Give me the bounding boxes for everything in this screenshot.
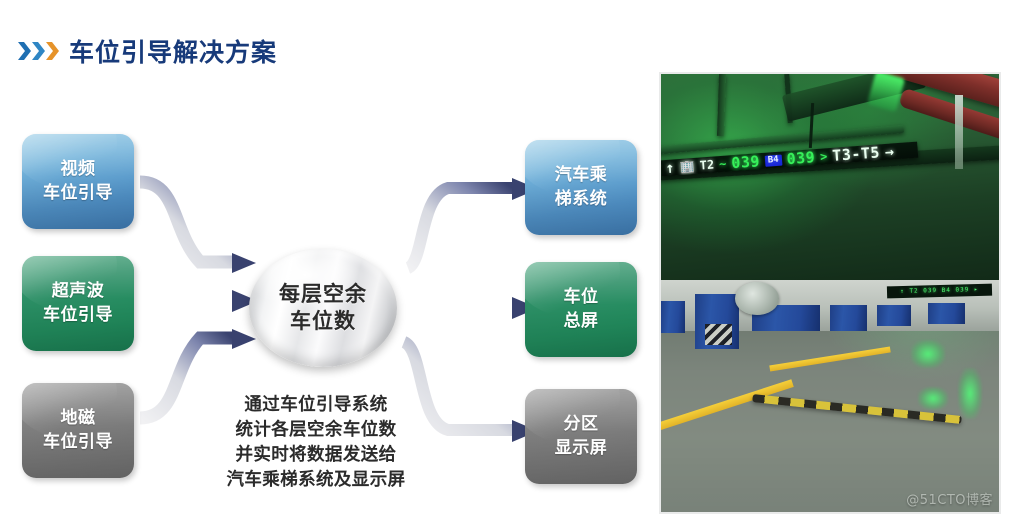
output-box-zone-display-line2: 显示屏 <box>555 437 608 460</box>
far-led-sign-text: ↑ T2 039 B4 039 ▸ <box>901 286 980 295</box>
led-building-icon: 🏢 <box>679 160 695 173</box>
led-label-t2: T2 <box>699 159 714 172</box>
center-sphere: 每层空余 车位数 <box>249 249 397 367</box>
led-approx-icon: ~ <box>719 158 727 170</box>
far-led-sign: ↑ T2 039 B4 039 ▸ <box>887 283 992 297</box>
floor-yellow-line <box>769 347 890 372</box>
parking-garage-photo: ↑ 🏢 T2 ~ 039 B4 039 > T3-T5 → <box>659 72 1001 514</box>
photo-content: ↑ 🏢 T2 ~ 039 B4 039 > T3-T5 → <box>661 74 999 512</box>
page-title: 车位引导解决方案 <box>18 33 277 69</box>
description-line-1: 通过车位引导系统 <box>196 393 436 418</box>
chevron-right-icon <box>46 41 59 61</box>
arrow-out-lift <box>408 178 538 268</box>
chevron-right-icon <box>32 41 45 61</box>
output-box-car-lift-line2: 梯系统 <box>555 188 608 211</box>
arrow-out-total <box>400 297 538 319</box>
photo-floor: ↑ T2 039 B4 039 ▸ <box>661 280 999 512</box>
led-caret-icon: > <box>820 150 828 162</box>
led-count-left: 039 <box>731 154 761 171</box>
center-sphere-line1: 每层空余 <box>279 281 367 308</box>
blue-column <box>928 303 965 324</box>
input-box-video[interactable]: 视频 车位引导 <box>22 134 134 229</box>
ceiling-beam <box>717 74 727 136</box>
led-arrow-right-icon: → <box>884 144 895 160</box>
description-block: 通过车位引导系统 统计各层空余车位数 并实时将数据发送给 汽车乘梯系统及显示屏 <box>196 393 436 492</box>
convex-mirror <box>735 282 779 314</box>
floor-yellow-line <box>659 379 794 430</box>
output-box-zone-display-line1: 分区 <box>564 413 599 436</box>
led-level-badge-b4: B4 <box>764 154 782 166</box>
green-floor-reflection <box>911 340 945 368</box>
input-box-ultrasonic-line1: 超声波 <box>52 280 105 303</box>
led-zone-t3-t5: T3-T5 <box>832 145 881 163</box>
blue-column <box>830 305 867 331</box>
support-post <box>955 95 963 169</box>
chevron-right-icon <box>18 41 31 61</box>
arrow-in-ultrasonic <box>140 290 258 312</box>
arrow-in-video <box>140 182 256 273</box>
slide-root: 车位引导解决方案 <box>0 0 1009 528</box>
output-box-car-lift-line1: 汽车乘 <box>555 164 608 187</box>
hazard-stripe <box>705 324 732 345</box>
page-title-text: 车位引导解决方案 <box>69 33 277 69</box>
description-line-4: 汽车乘梯系统及显示屏 <box>196 468 436 493</box>
blue-column <box>661 301 685 333</box>
output-box-total-screen-line1: 车位 <box>564 286 599 309</box>
output-box-total-screen-line2: 总屏 <box>564 310 599 333</box>
led-arrow-up-icon: ↑ <box>665 160 676 176</box>
input-box-video-line2: 车位引导 <box>43 182 113 205</box>
input-box-video-line1: 视频 <box>61 158 96 181</box>
center-sphere-line2: 车位数 <box>290 308 356 335</box>
watermark: @51CTO博客 <box>906 489 993 508</box>
output-box-total-screen[interactable]: 车位 总屏 <box>525 262 637 357</box>
output-box-car-lift[interactable]: 汽车乘 梯系统 <box>525 140 637 235</box>
input-box-ultrasonic[interactable]: 超声波 车位引导 <box>22 256 134 351</box>
input-box-geomagnetic-line2: 车位引导 <box>43 431 113 454</box>
photo-ceiling: ↑ 🏢 T2 ~ 039 B4 039 > T3-T5 → <box>661 74 999 280</box>
description-line-3: 并实时将数据发送给 <box>196 443 436 468</box>
input-box-geomagnetic[interactable]: 地磁 车位引导 <box>22 383 134 478</box>
output-box-zone-display[interactable]: 分区 显示屏 <box>525 389 637 484</box>
chevron-right-triple-icon <box>18 41 59 61</box>
green-floor-reflection <box>918 387 948 410</box>
description-line-2: 统计各层空余车位数 <box>196 418 436 443</box>
led-count-right: 039 <box>786 150 816 167</box>
input-box-geomagnetic-line1: 地磁 <box>61 407 96 430</box>
input-box-ultrasonic-line2: 车位引导 <box>43 304 113 327</box>
blue-column <box>877 305 911 326</box>
green-floor-reflection <box>958 368 982 419</box>
